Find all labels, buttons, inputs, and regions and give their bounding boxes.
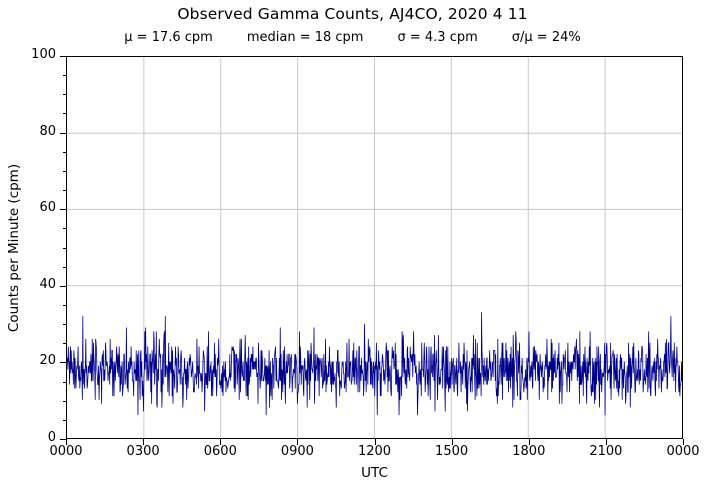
stat-mean: μ = 17.6 cpm <box>124 30 213 45</box>
y-tick-label: 0 <box>0 430 56 445</box>
y-tick-mark <box>60 362 66 363</box>
x-tick-label: 0000 <box>49 444 82 459</box>
x-axis-label: UTC <box>66 465 683 481</box>
y-tick-mark <box>60 56 66 57</box>
y-tick-label: 40 <box>0 277 56 292</box>
x-tick-label: 0000 <box>666 444 699 459</box>
stat-median: median = 18 cpm <box>247 30 364 45</box>
chart-page: Observed Gamma Counts, AJ4CO, 2020 4 11 … <box>0 0 705 489</box>
y-axis-label: Counts per Minute (cpm) <box>4 56 24 439</box>
x-tick-label: 0600 <box>204 444 237 459</box>
y-minor-tick <box>63 75 66 76</box>
stat-cv: σ/μ = 24% <box>512 30 581 45</box>
y-minor-tick <box>63 152 66 153</box>
x-tick-label: 1800 <box>512 444 545 459</box>
y-minor-tick <box>63 343 66 344</box>
y-tick-mark <box>60 286 66 287</box>
y-minor-tick <box>63 94 66 95</box>
y-minor-tick <box>63 324 66 325</box>
y-minor-tick <box>63 382 66 383</box>
y-minor-tick <box>63 113 66 114</box>
x-tick-label: 0300 <box>127 444 160 459</box>
y-minor-tick <box>63 190 66 191</box>
y-axis-label-text: Counts per Minute (cpm) <box>6 163 22 331</box>
y-tick-mark <box>60 209 66 210</box>
data-series-line <box>67 57 682 438</box>
chart-subtitle-stats: μ = 17.6 cpmmedian = 18 cpmσ = 4.3 cpmσ/… <box>0 30 705 45</box>
y-tick-label: 60 <box>0 200 56 215</box>
plot-area <box>66 56 683 439</box>
x-tick-label: 0900 <box>281 444 314 459</box>
y-minor-tick <box>63 267 66 268</box>
chart-title: Observed Gamma Counts, AJ4CO, 2020 4 11 <box>0 5 705 23</box>
x-tick-label: 2100 <box>589 444 622 459</box>
y-minor-tick <box>63 248 66 249</box>
y-tick-label: 80 <box>0 124 56 139</box>
y-minor-tick <box>63 171 66 172</box>
x-tick-label: 1200 <box>358 444 391 459</box>
y-minor-tick <box>63 401 66 402</box>
y-minor-tick <box>63 305 66 306</box>
y-tick-label: 100 <box>0 47 56 62</box>
y-minor-tick <box>63 420 66 421</box>
stat-sigma: σ = 4.3 cpm <box>397 30 477 45</box>
y-minor-tick <box>63 228 66 229</box>
x-tick-label: 1500 <box>435 444 468 459</box>
y-tick-mark <box>60 133 66 134</box>
y-tick-label: 20 <box>0 353 56 368</box>
